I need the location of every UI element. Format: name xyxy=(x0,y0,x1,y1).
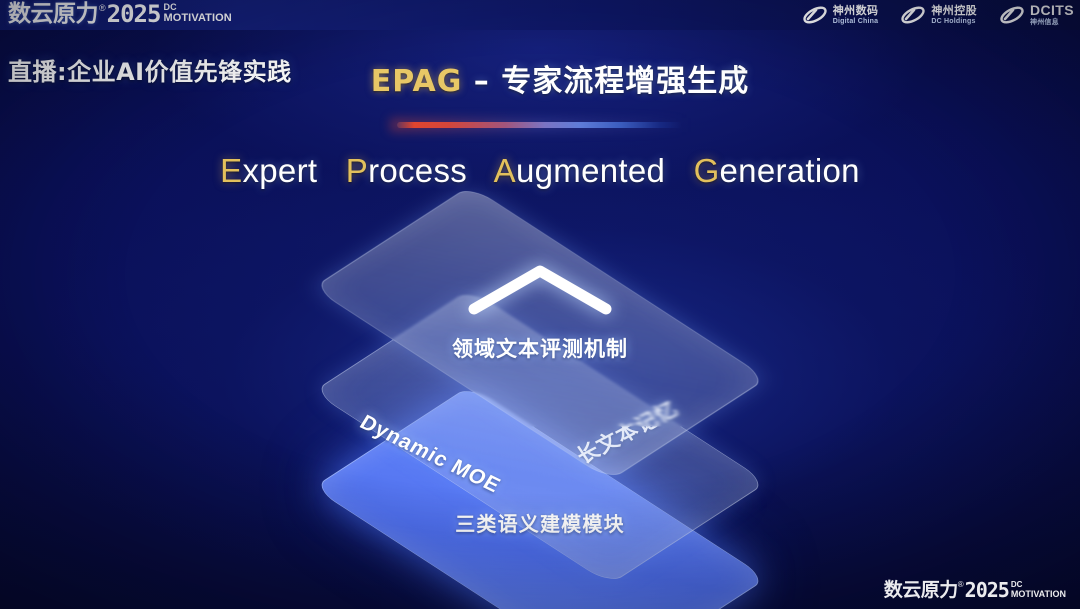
partner-text: DCITS 神州信息 xyxy=(1030,3,1074,26)
partner-name-en: DCITS xyxy=(1030,3,1074,17)
brand-dc-motivation: DC MOTIVATION xyxy=(163,3,231,24)
layer-top-wrap xyxy=(240,215,840,585)
brand-dc-line2: MOTIVATION xyxy=(163,12,231,24)
subtitle-rest: xpert xyxy=(242,152,317,189)
title-acronym: EPAG xyxy=(371,64,463,99)
subtitle-space xyxy=(675,152,684,189)
partner-logo-group: 神州数码 Digital China 神州控股 DC Holdings DCIT… xyxy=(802,3,1074,26)
partner-text: 神州数码 Digital China xyxy=(833,5,879,25)
subtitle-word-augmented: Augmented xyxy=(494,152,666,189)
brand-year: 2025 xyxy=(107,2,161,27)
brand-dc-line1: DC xyxy=(163,3,231,12)
subtitle-initial: G xyxy=(694,152,720,189)
title-separator: – xyxy=(462,64,501,99)
subtitle-initial: A xyxy=(494,152,516,189)
subtitle-initial: P xyxy=(346,152,368,189)
partner-name-cn: 神州数码 xyxy=(833,5,879,16)
watermark-dc-motivation: DC MOTIVATION xyxy=(1011,581,1066,599)
title-chinese: 专家流程增强生成 xyxy=(501,64,749,99)
subtitle-word-expert: Expert xyxy=(220,152,317,189)
partner-logo-dcits: DCITS 神州信息 xyxy=(999,3,1074,26)
title-divider xyxy=(397,122,682,128)
subtitle-rest: eneration xyxy=(720,152,860,189)
partner-logo-digital-china: 神州数码 Digital China xyxy=(802,5,879,25)
watermark-dc-line2: MOTIVATION xyxy=(1011,589,1066,599)
partner-text: 神州控股 DC Holdings xyxy=(931,5,977,25)
brand-logo: 数云原力 ® 2025 DC MOTIVATION xyxy=(8,2,232,27)
watermark-dc-line1: DC xyxy=(1011,581,1066,589)
subtitle-initial: E xyxy=(220,152,242,189)
partner-name-en: Digital China xyxy=(833,18,879,25)
partner-name-cn: 神州信息 xyxy=(1030,19,1074,26)
subtitle-word-generation: Generation xyxy=(694,152,860,189)
partner-name-cn: 神州控股 xyxy=(931,5,977,16)
layer-top-plate[interactable] xyxy=(313,185,768,480)
subtitle-expansion: Expert Process Augmented Generation xyxy=(0,152,1080,190)
swoosh-icon xyxy=(999,5,1025,25)
brand-name-cn: 数云原力 xyxy=(8,2,98,27)
subtitle-rest: rocess xyxy=(368,152,467,189)
page-title: EPAG – 专家流程增强生成 xyxy=(0,56,1080,100)
watermark-year: 2025 xyxy=(965,580,1009,601)
partner-name-en: DC Holdings xyxy=(931,18,977,25)
subtitle-rest: ugmented xyxy=(516,152,665,189)
partner-logo-dc-holdings: 神州控股 DC Holdings xyxy=(900,5,977,25)
swoosh-icon xyxy=(900,5,926,25)
isometric-layer-diagram: Dynamic MOE 长文本记忆 领域文本评测机制 三类语义建模模块 xyxy=(240,215,840,585)
subtitle-space xyxy=(327,152,336,189)
watermark-registered-mark: ® xyxy=(958,580,964,590)
swoosh-icon xyxy=(802,5,828,25)
subtitle-space xyxy=(477,152,486,189)
brand-registered-mark: ® xyxy=(99,2,106,14)
subtitle-word-process: Process xyxy=(346,152,467,189)
footer-watermark: 数云原力 ® 2025 DC MOTIVATION xyxy=(884,580,1066,601)
watermark-name-cn: 数云原力 xyxy=(884,580,958,601)
